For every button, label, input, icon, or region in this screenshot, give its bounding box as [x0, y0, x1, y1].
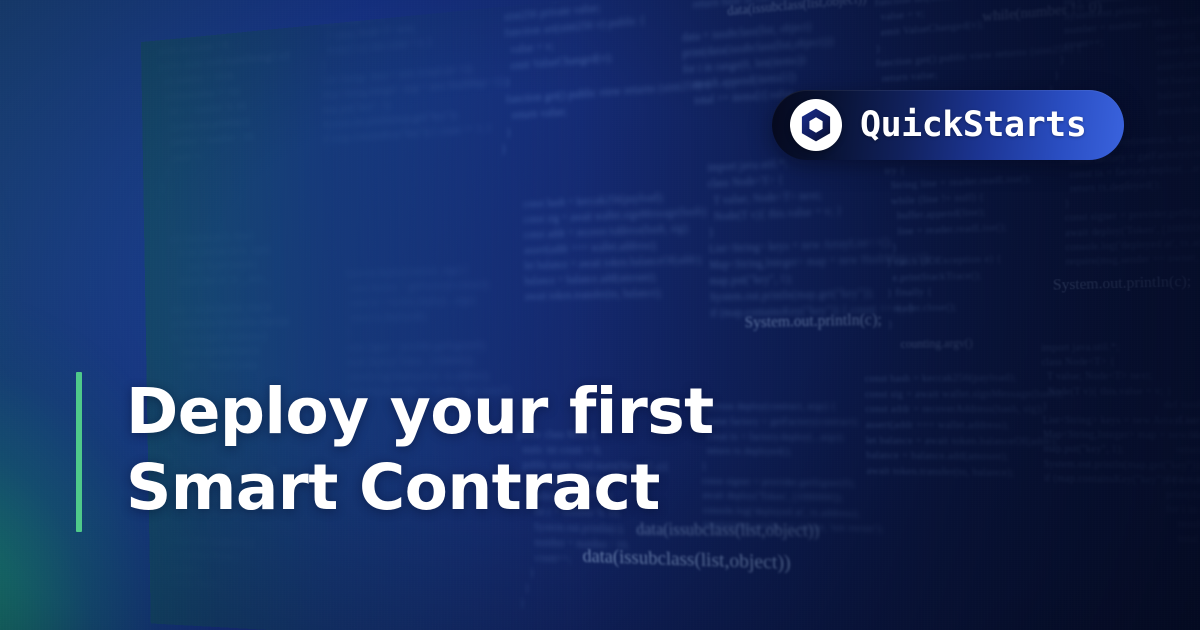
quickstarts-banner: public class Main { static int count = 0…: [0, 0, 1200, 630]
page-title-line-2: Smart Contract: [126, 450, 714, 526]
headline-block: Deploy your first Smart Contract: [76, 372, 714, 532]
accent-bar: [76, 372, 82, 532]
chainlink-hexagon-icon: [790, 99, 842, 151]
quickstarts-badge[interactable]: QuickStarts: [772, 90, 1124, 160]
page-title-line-1: Deploy your first: [126, 374, 714, 450]
page-title: Deploy your first Smart Contract: [126, 372, 714, 532]
quickstarts-badge-label: QuickStarts: [860, 105, 1086, 145]
